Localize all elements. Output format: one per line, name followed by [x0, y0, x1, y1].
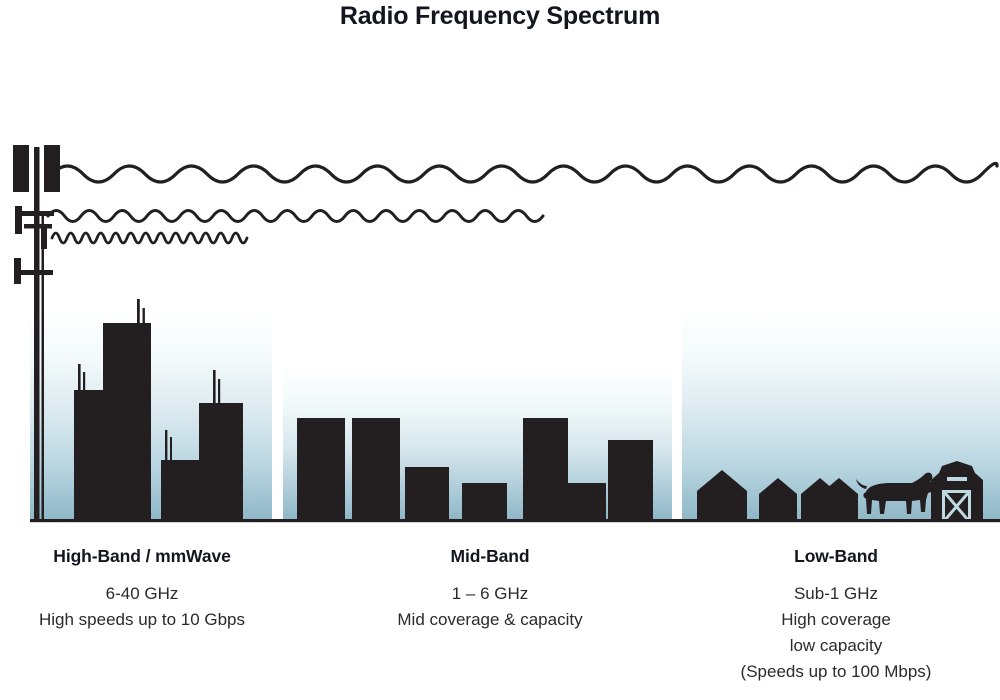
tower-crossarm-upper2 — [24, 224, 52, 229]
band-speed-low-band: (Speeds up to 100 Mbps) — [672, 659, 1000, 685]
wave-mid-band — [48, 211, 543, 222]
band-details-mid-band: 1 – 6 GHz Mid coverage & capacity — [330, 581, 650, 633]
skyscraper-spire — [137, 299, 140, 325]
band-frequency-low-band: Sub-1 GHz — [672, 581, 1000, 607]
barn-hayloft-window — [947, 477, 967, 481]
skyscraper-spire — [165, 430, 167, 460]
band-heading-mid-band: Mid-Band — [330, 546, 650, 567]
building — [523, 418, 568, 520]
wave-low-band — [52, 163, 997, 182]
band-frequency-mid-band: 1 – 6 GHz — [330, 581, 650, 607]
skyscraper-spire — [143, 308, 145, 325]
building — [568, 483, 606, 520]
band-heading-high-band: High-Band / mmWave — [0, 546, 284, 567]
wave-high-band — [52, 233, 247, 243]
band-frequency-high-band: 6-40 GHz — [0, 581, 284, 607]
tower-panel-antenna-small — [41, 224, 47, 249]
skyscraper — [199, 403, 243, 520]
tower-panel-antenna-right — [44, 145, 60, 192]
tower-crossarm-lower — [20, 270, 53, 275]
building — [352, 418, 400, 520]
tower-panel-antenna-left — [13, 145, 29, 192]
tower-panel-antenna-bottom — [14, 258, 21, 284]
skyscraper — [103, 323, 151, 520]
ground-line — [30, 519, 1000, 522]
infographic-canvas: Radio Frequency Spectrum — [0, 0, 1000, 700]
band-speed-mid-band: Mid coverage & capacity — [330, 607, 650, 633]
skyscraper-spire — [213, 370, 216, 403]
band-details-high-band: 6-40 GHz High speeds up to 10 Gbps — [0, 581, 284, 633]
skyscraper — [74, 390, 103, 520]
band-coverage-low-band: High coverage — [672, 607, 1000, 633]
tower-mast-secondary — [42, 216, 45, 520]
band-capacity-low-band: low capacity — [672, 633, 1000, 659]
tower-crossarm-upper — [18, 211, 54, 216]
building — [608, 440, 653, 520]
band-column-mid-band: Mid-Band 1 – 6 GHz Mid coverage & capaci… — [330, 546, 650, 633]
skyscraper — [161, 460, 199, 520]
building — [462, 483, 507, 520]
tower-mast — [34, 147, 40, 520]
band-speed-high-band: High speeds up to 10 Gbps — [0, 607, 284, 633]
building — [405, 467, 449, 520]
tower-panel-antenna-mid — [15, 206, 22, 234]
building — [297, 418, 345, 520]
band-column-high-band: High-Band / mmWave 6-40 GHz High speeds … — [0, 546, 284, 633]
skyscraper-spire — [170, 437, 172, 460]
skyscraper-spire — [218, 379, 220, 403]
band-heading-low-band: Low-Band — [672, 546, 1000, 567]
band-column-low-band: Low-Band Sub-1 GHz High coverage low cap… — [672, 546, 1000, 685]
band-details-low-band: Sub-1 GHz High coverage low capacity (Sp… — [672, 581, 1000, 685]
